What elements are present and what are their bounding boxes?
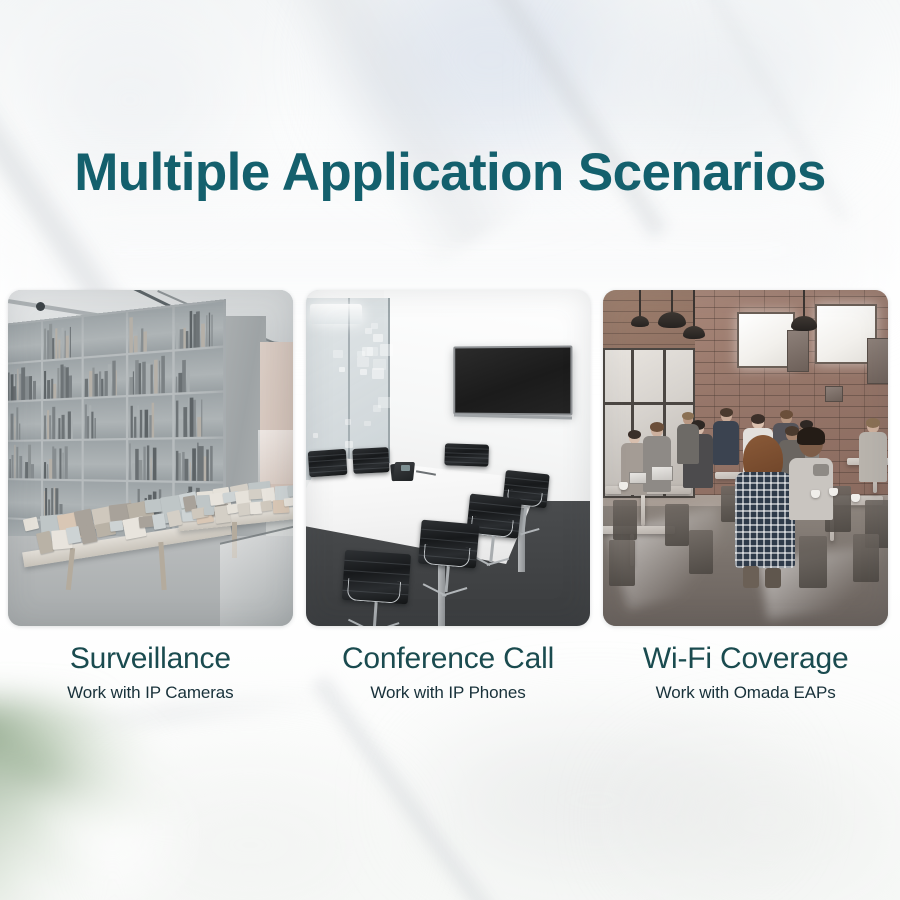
cafe-chair bbox=[665, 504, 689, 546]
bookshelf-cell bbox=[175, 302, 223, 349]
glass-fleck bbox=[365, 328, 372, 334]
bookshelf-cell bbox=[43, 317, 82, 359]
conference-chair bbox=[307, 449, 350, 517]
bookshelf-cell bbox=[128, 351, 173, 395]
application-scenarios-banner: Multiple Application Scenarios bbox=[0, 0, 900, 900]
glass-fleck bbox=[313, 433, 319, 438]
library-photo bbox=[8, 290, 293, 626]
cafe-chair bbox=[609, 540, 635, 586]
bookshelf-cell bbox=[175, 347, 223, 393]
caption-conference-call: Conference Call Work with IP Phones bbox=[306, 642, 591, 703]
caption-subtitle: Work with IP Phones bbox=[306, 683, 591, 703]
ip-conference-phone bbox=[392, 458, 416, 483]
glass-fleck bbox=[310, 304, 315, 308]
display-book bbox=[287, 484, 293, 497]
cafe-patron bbox=[859, 420, 887, 482]
caption-subtitle: Work with Omada EAPs bbox=[603, 683, 888, 703]
scenario-card-surveillance[interactable] bbox=[8, 290, 293, 626]
cafe-patron bbox=[677, 414, 699, 464]
glass-fleck bbox=[364, 421, 371, 427]
conference-chair bbox=[352, 447, 391, 514]
bookshelf-cell bbox=[43, 399, 82, 439]
caption-title: Conference Call bbox=[306, 642, 591, 675]
caption-title: Surveillance bbox=[8, 642, 293, 675]
bookshelf-cell bbox=[8, 362, 41, 402]
glass-fleck bbox=[345, 441, 353, 448]
bookshelf-cell bbox=[8, 322, 41, 363]
glass-fleck bbox=[373, 334, 383, 342]
glass-fleck bbox=[360, 369, 367, 375]
glass-fleck bbox=[372, 368, 384, 378]
bookshelf-cell bbox=[84, 355, 126, 397]
bookshelf-cell bbox=[43, 441, 82, 480]
scenario-caption-row: Surveillance Work with IP Cameras Confer… bbox=[8, 642, 888, 703]
bookshelf-cell bbox=[128, 439, 173, 481]
bookshelf-cell bbox=[8, 441, 41, 479]
bookshelf-cell bbox=[84, 312, 126, 356]
cafe-patron bbox=[643, 424, 671, 492]
cafe-patron-foreground-2 bbox=[789, 430, 835, 526]
bookshelf-cell bbox=[8, 480, 41, 518]
bookshelf-cell bbox=[128, 395, 173, 437]
bookshelf-cell bbox=[8, 401, 41, 439]
page-title: Multiple Application Scenarios bbox=[0, 142, 900, 203]
scenario-card-conference-call[interactable] bbox=[306, 290, 591, 626]
conference-room-photo bbox=[306, 290, 591, 626]
cafe-patron-foreground bbox=[735, 438, 797, 588]
glass-fleck bbox=[380, 344, 393, 355]
caption-wifi-coverage: Wi-Fi Coverage Work with Omada EAPs bbox=[603, 642, 888, 703]
cafe-photo bbox=[603, 290, 888, 626]
glass-fleck bbox=[357, 357, 369, 367]
display-book bbox=[109, 520, 123, 532]
glass-fleck bbox=[339, 367, 345, 372]
conference-chair bbox=[339, 550, 411, 626]
laptop bbox=[629, 472, 647, 484]
bookshelf-cell bbox=[175, 393, 223, 437]
bookshelf-cell bbox=[84, 397, 126, 438]
display-book bbox=[65, 526, 81, 544]
bookshelf-cell bbox=[84, 440, 126, 480]
bookshelf-cell bbox=[128, 307, 173, 352]
scenario-card-row bbox=[8, 290, 888, 626]
display-book bbox=[260, 500, 272, 511]
caption-surveillance: Surveillance Work with IP Cameras bbox=[8, 642, 293, 703]
cafe-chair bbox=[799, 536, 827, 588]
glass-fleck bbox=[362, 347, 373, 357]
bookshelf-cell bbox=[43, 358, 82, 399]
glass-fleck bbox=[345, 419, 352, 425]
laptop bbox=[651, 466, 673, 481]
cafe-chair bbox=[853, 534, 879, 582]
glass-fleck bbox=[373, 405, 381, 412]
caption-subtitle: Work with IP Cameras bbox=[8, 683, 293, 703]
bookshelf-cell bbox=[175, 438, 223, 481]
cafe-chair bbox=[689, 530, 713, 574]
display-book bbox=[203, 507, 213, 516]
wall-display-screen bbox=[453, 345, 572, 415]
display-book bbox=[284, 498, 293, 507]
cafe-chair bbox=[613, 500, 637, 540]
conference-chair bbox=[414, 520, 479, 609]
glass-fleck bbox=[333, 350, 343, 358]
caption-title: Wi-Fi Coverage bbox=[603, 642, 888, 675]
scenario-card-wifi-coverage[interactable] bbox=[603, 290, 888, 626]
